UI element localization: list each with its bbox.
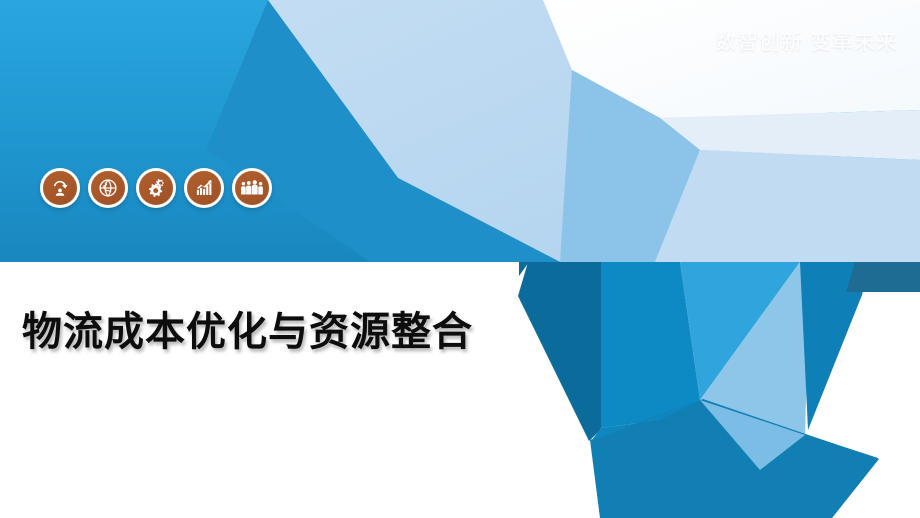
presentation-title-slide: 数智创新 变革未来 (0, 0, 920, 518)
globe-glyph (97, 177, 119, 199)
recycle-arrow-icon[interactable] (40, 168, 80, 208)
icon-strip (40, 168, 272, 208)
gears-icon[interactable] (136, 168, 176, 208)
background-polygon-art (0, 0, 920, 518)
bar-chart-growth-glyph (193, 177, 215, 199)
people-group-icon[interactable] (232, 168, 272, 208)
bar-chart-growth-icon[interactable] (184, 168, 224, 208)
page-title: 物流成本优化与资源整合 (22, 299, 473, 357)
globe-icon[interactable] (88, 168, 128, 208)
polygon-light-facet (655, 150, 920, 262)
recycle-arrow-glyph (49, 177, 71, 199)
people-group-glyph (240, 178, 264, 198)
polygon-darkest-sliver (846, 262, 920, 292)
slide-tagline: 数智创新 变革未来 (715, 26, 898, 56)
gears-glyph (145, 177, 168, 200)
